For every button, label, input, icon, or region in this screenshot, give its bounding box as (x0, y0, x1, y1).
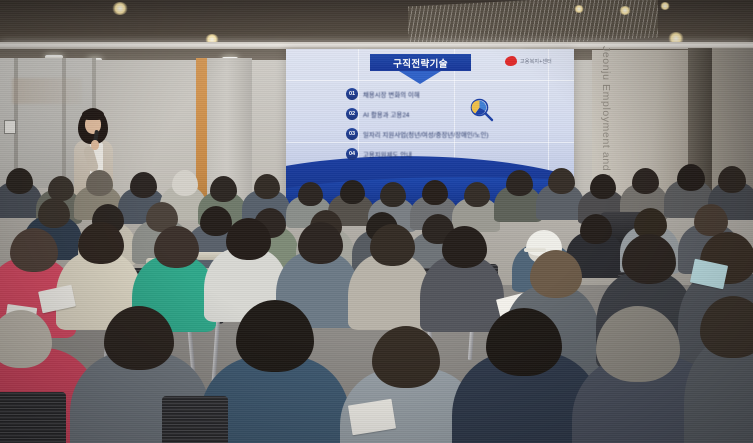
lecture-room-photo: Jeonju Employment and Welfare Plus Cente… (0, 0, 753, 443)
slide-item-number: 02 (346, 108, 358, 120)
presenter-fringe (82, 109, 104, 120)
audience-head (442, 226, 487, 268)
audience-head (590, 174, 616, 199)
logo-mark-icon (505, 56, 517, 66)
audience-head (380, 182, 406, 207)
audience-head (6, 168, 33, 194)
magnifier-pie-chart-icon (469, 97, 495, 123)
slide-logo-label: 고용복지+센터 (520, 58, 552, 65)
presenter-hand (91, 140, 99, 150)
audience-head (694, 204, 728, 236)
slide-list-item: 04 고용지원제도 안내 (346, 148, 412, 160)
slide-item-number: 01 (346, 88, 358, 100)
ceiling-spotlight (619, 6, 631, 15)
audience-head (677, 164, 705, 191)
slide-item-text: 일자리 지원사업(청년/여성/중장년/장애인/노인) (363, 130, 489, 139)
audience-head (86, 170, 113, 196)
glass-wall-lettering (12, 78, 82, 104)
audience-head (372, 326, 440, 388)
slide-list-item: 03 일자리 지원사업(청년/여성/중장년/장애인/노인) (346, 128, 489, 140)
slide-title-arrow (399, 71, 441, 84)
audience-head (154, 226, 199, 268)
audience-head (10, 228, 58, 272)
audience-head (172, 170, 198, 196)
audience-head (298, 182, 323, 206)
ceiling-spotlight (574, 5, 584, 13)
slide-item-text: AI 활용과 고용24 (363, 110, 410, 119)
audience-head (298, 222, 343, 264)
ceiling-light-beam (0, 42, 753, 49)
audience-head (622, 234, 676, 284)
audience-head (548, 168, 575, 194)
audience-head (210, 176, 237, 202)
ceiling-spotlight (660, 2, 670, 10)
slide-logo: 고용복지+센터 (505, 56, 552, 66)
audience-head (370, 224, 415, 266)
slide-item-text: 채용시장 변화의 이해 (363, 90, 420, 99)
slide-title: 구직전략기술 (370, 54, 471, 71)
slide-list-item: 01 채용시장 변화의 이해 (346, 88, 420, 100)
audience-head (632, 168, 659, 194)
audience-head (38, 198, 70, 228)
audience-head (506, 170, 533, 196)
audience-head (464, 182, 490, 207)
screen-seam (286, 142, 574, 143)
slide-item-text: 고용지원제도 안내 (363, 150, 412, 159)
audience-head (254, 174, 280, 199)
audience-head (422, 180, 448, 205)
cap-brim (524, 248, 546, 252)
slide-item-number: 04 (346, 148, 358, 160)
slide-item-number: 03 (346, 128, 358, 140)
audience-head (130, 172, 157, 198)
audience-head (530, 250, 582, 298)
ceiling-spotlight (112, 2, 128, 15)
audience-head (226, 218, 271, 260)
audience-head (78, 222, 124, 264)
chair-back (162, 396, 228, 443)
audience-head (718, 166, 746, 193)
slide-list-item: 02 AI 활용과 고용24 (346, 108, 410, 120)
audience-head (340, 180, 365, 204)
chair-back (0, 392, 66, 443)
wall-sign-plate (4, 120, 16, 134)
audience-head (580, 214, 612, 244)
